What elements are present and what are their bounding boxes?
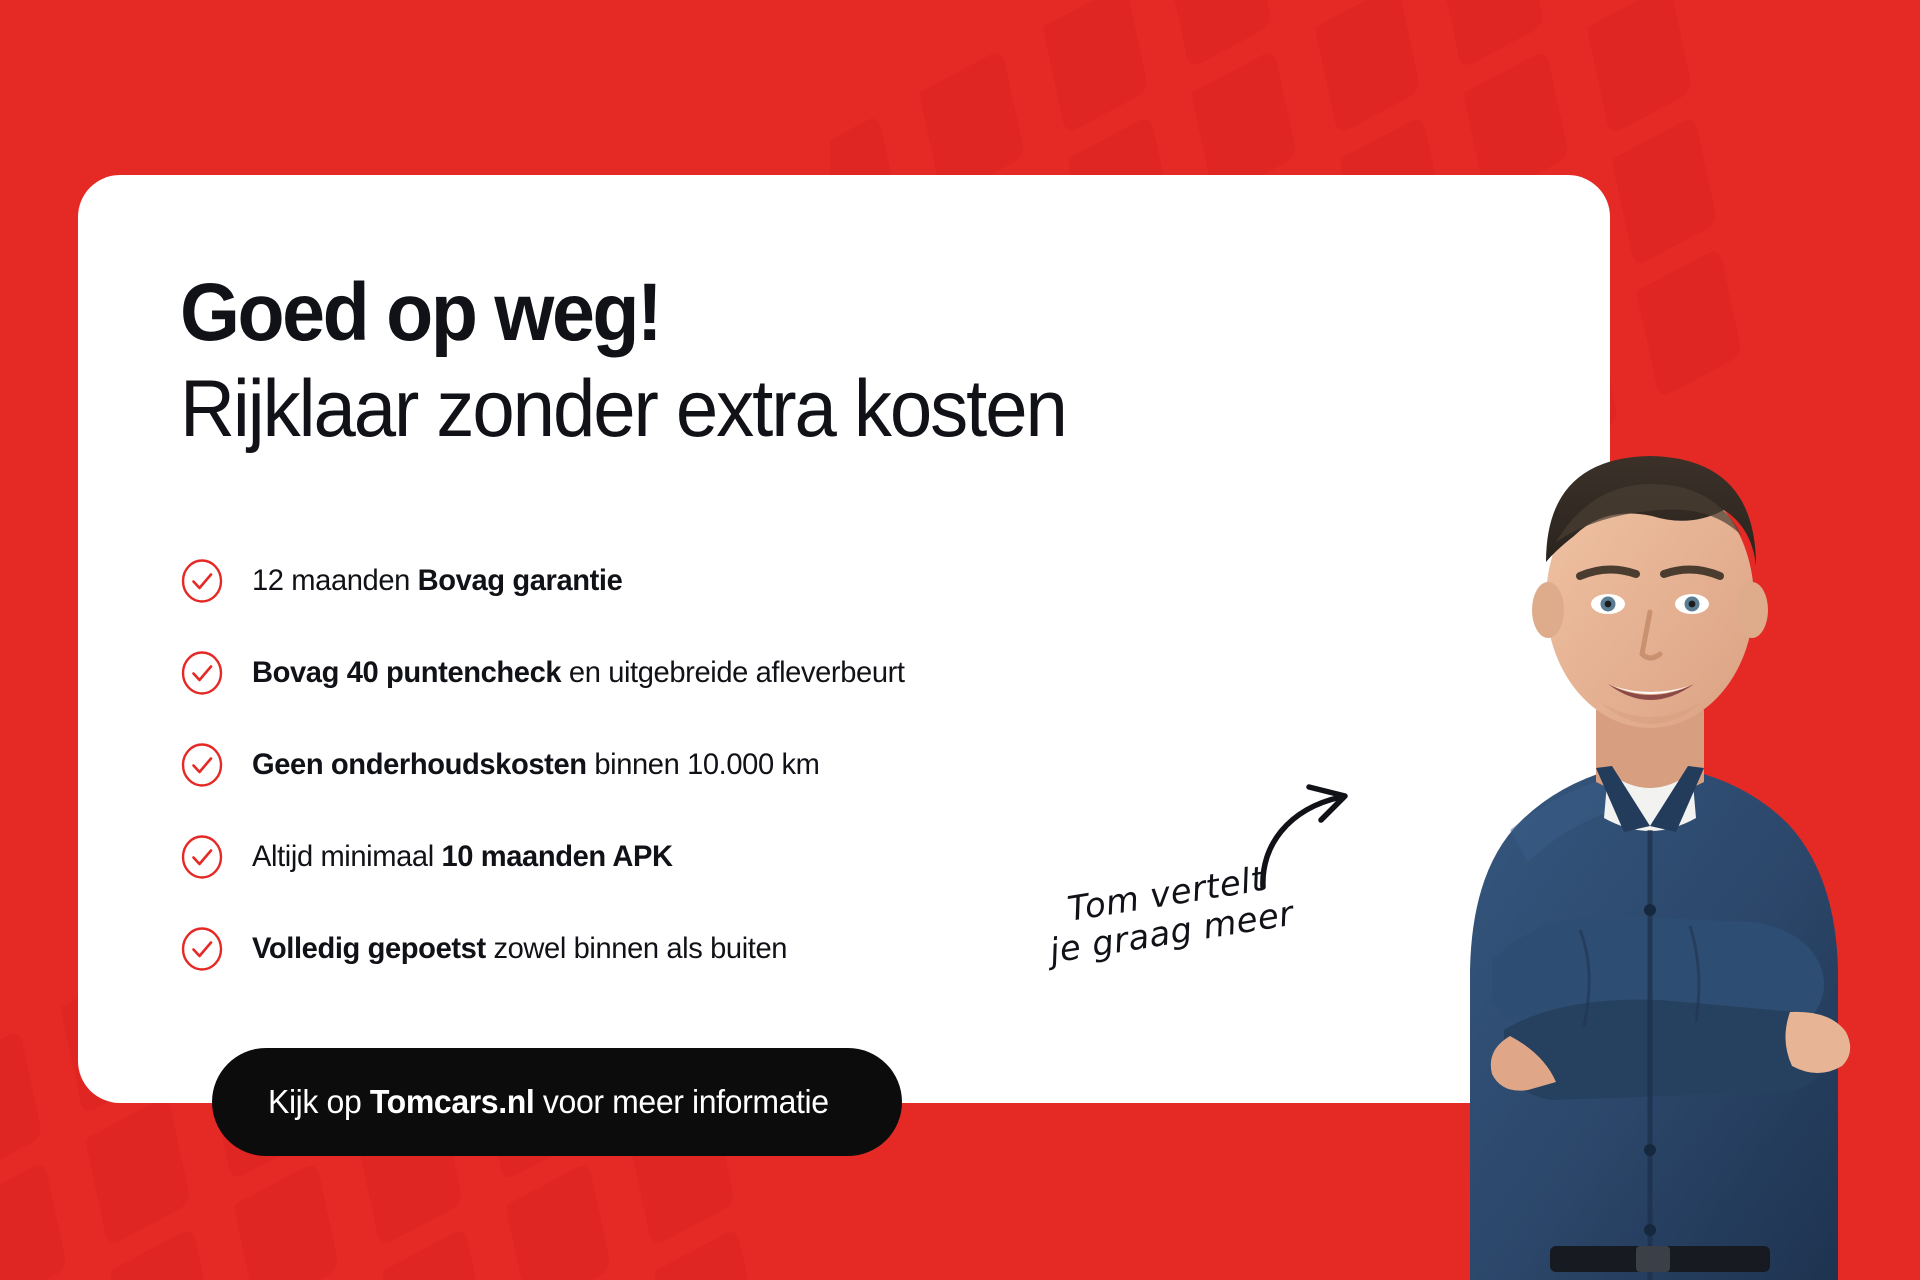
list-item: Altijd minimaal 10 maanden APK (180, 821, 1180, 893)
check-circle-icon (180, 743, 224, 787)
check-circle-icon (180, 651, 224, 695)
list-item-label: Volledig gepoetst zowel binnen als buite… (252, 932, 787, 966)
list-item: Bovag 40 puntencheck en uitgebreide afle… (180, 637, 1180, 709)
text-prefix: 12 maanden (252, 564, 418, 597)
text-bold: Bovag 40 puntencheck (252, 656, 561, 689)
text-bold: 10 maanden APK (441, 840, 672, 873)
text-suffix: zowel binnen als buiten (486, 932, 787, 965)
heading-block: Goed op weg! Rijklaar zonder extra koste… (180, 272, 1122, 453)
cta-button[interactable]: Kijk op Tomcars.nl voor meer informatie (212, 1048, 902, 1156)
text-bold: Volledig gepoetst (252, 932, 486, 965)
cta-suffix: voor meer informatie (534, 1083, 828, 1120)
page-title: Goed op weg! (180, 272, 1066, 354)
cta-prefix: Kijk op (268, 1083, 370, 1120)
list-item-label: Altijd minimaal 10 maanden APK (252, 840, 673, 874)
handwritten-note: Tom vertelt je graag meer (1050, 890, 1350, 972)
list-item-label: Bovag 40 puntencheck en uitgebreide afle… (252, 656, 905, 690)
benefits-checklist: 12 maanden Bovag garantie Bovag 40 punte… (180, 545, 1180, 1005)
text-suffix: en uitgebreide afleverbeurt (561, 656, 904, 689)
check-circle-icon (180, 835, 224, 879)
text-suffix: binnen 10.000 km (587, 748, 820, 781)
list-item: Geen onderhoudskosten binnen 10.000 km (180, 729, 1180, 801)
list-item-label: 12 maanden Bovag garantie (252, 564, 622, 598)
check-circle-icon (180, 559, 224, 603)
list-item: 12 maanden Bovag garantie (180, 545, 1180, 617)
page-subtitle: Rijklaar zonder extra kosten (180, 366, 1066, 453)
check-circle-icon (180, 927, 224, 971)
person-photo (1360, 270, 1920, 1280)
list-item-label: Geen onderhoudskosten binnen 10.000 km (252, 748, 819, 782)
cta-label: Kijk op Tomcars.nl voor meer informatie (268, 1083, 829, 1121)
text-prefix: Altijd minimaal (252, 840, 441, 873)
text-bold: Geen onderhoudskosten (252, 748, 587, 781)
list-item: Volledig gepoetst zowel binnen als buite… (180, 913, 1180, 985)
text-bold: Bovag garantie (418, 564, 623, 597)
cta-brand: Tomcars.nl (370, 1083, 535, 1120)
